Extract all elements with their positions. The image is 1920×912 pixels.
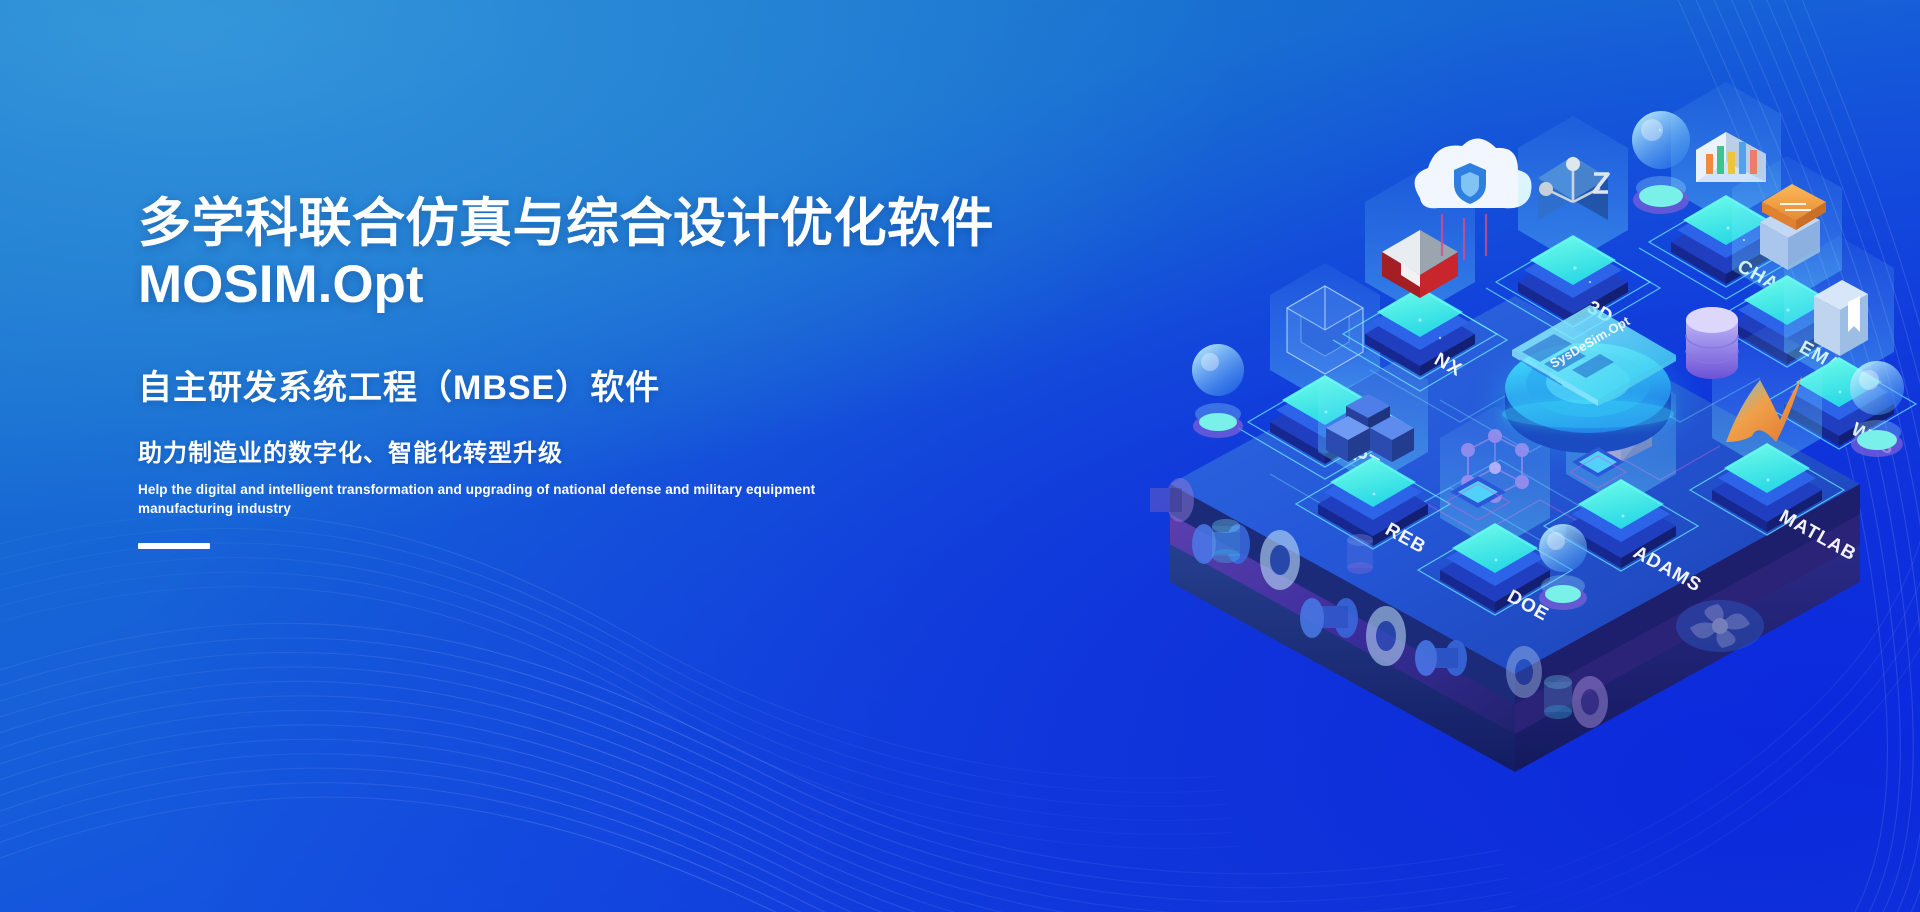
database-cylinder-icon (1686, 307, 1738, 379)
page-title: 多学科联合仿真与综合设计优化软件 MOSIM.Opt (138, 193, 978, 316)
hero-text-block: 多学科联合仿真与综合设计优化软件 MOSIM.Opt 自主研发系统工程（MBSE… (138, 193, 978, 549)
document-icon (1814, 280, 1868, 356)
tagline-chinese: 助力制造业的数字化、智能化转型升级 (138, 438, 978, 469)
headline-chinese: 多学科联合仿真与综合设计优化软件 (138, 194, 994, 253)
subheadline: 自主研发系统工程（MBSE）软件 (138, 366, 978, 410)
headline-product-name: MOSIM.Opt (138, 254, 978, 315)
accent-divider (138, 543, 210, 549)
isometric-platform-illustration: OPT NX (1120, 70, 1910, 770)
sphere-orb-icon-left (1192, 344, 1244, 438)
tagline-english: Help the digital and intelligent transfo… (138, 480, 838, 518)
hero-banner: 多学科联合仿真与综合设计优化软件 MOSIM.Opt 自主研发系统工程（MBSE… (0, 0, 1920, 912)
fan-icon (1676, 600, 1764, 652)
